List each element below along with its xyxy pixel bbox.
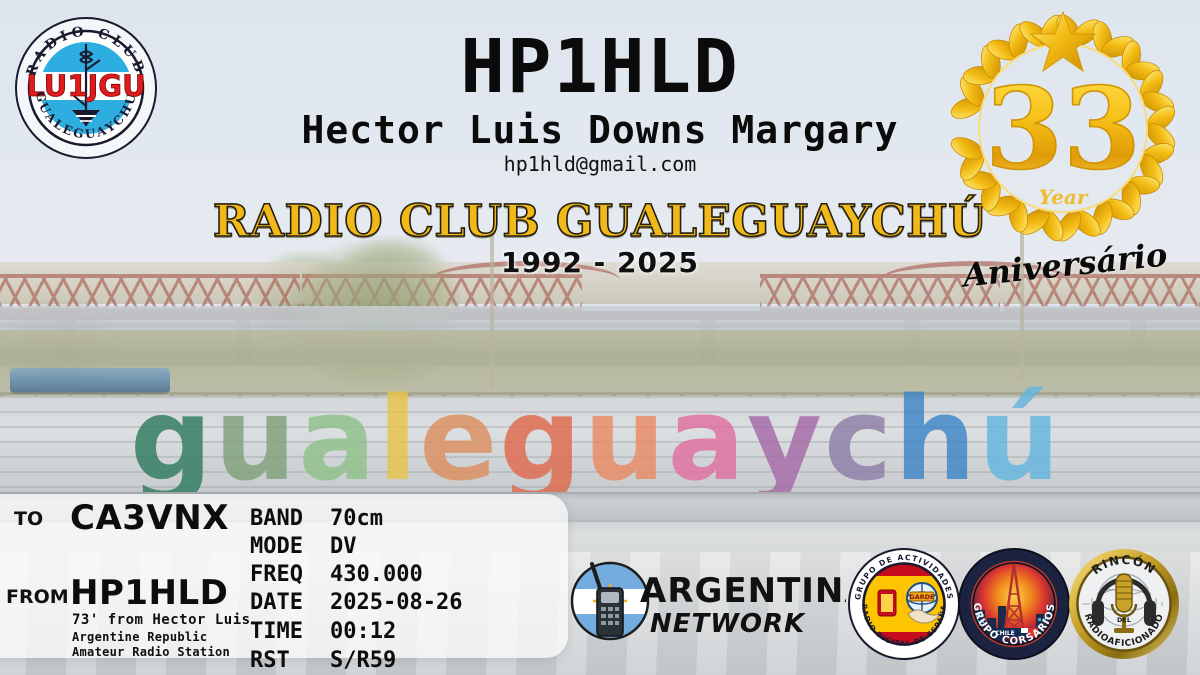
qso-field-value: 2025-08-26 (330, 589, 462, 617)
qso-field-key: MODE (250, 533, 330, 561)
qso-field-value: DV (330, 533, 357, 561)
qsl-card: GualeGuayCHÚ LU1JGU (0, 0, 1200, 675)
letter-sculpture-9: C (824, 383, 892, 498)
qso-field-key: FREQ (250, 561, 330, 589)
qso-field-value: 00:12 (330, 618, 396, 646)
letter-sculpture-7: a (667, 383, 745, 498)
letter-sculpture-0: G (130, 383, 212, 498)
qso-note-line-2: Argentine Republic (72, 630, 251, 644)
star-icon (1031, 12, 1095, 71)
qso-note-line-3: Amateur Radio Station (72, 645, 251, 659)
anniversary-badge: 33 Year (938, 8, 1188, 268)
qso-field-value: 70cm (330, 505, 383, 533)
from-label: FROM (6, 586, 69, 608)
qso-field-band: BAND70cm (250, 505, 462, 533)
anniversary-number: 33 (985, 64, 1141, 195)
qso-field-key: BAND (250, 505, 330, 533)
qso-note-line-1: 73' from Hector Luis (72, 612, 251, 628)
qso-field-freq: FREQ430.000 (250, 561, 462, 589)
letter-sculpture-2: a (298, 383, 376, 498)
letter-sculpture-8: y (747, 383, 822, 498)
qso-field-value: 430.000 (330, 561, 423, 589)
letter-sculpture-10: H (894, 383, 976, 498)
from-callsign: HP1HLD (70, 573, 228, 613)
letter-sculpture-3: l (378, 383, 417, 498)
qso-field-key-rst: RST (250, 647, 330, 675)
grupo-corsarios-badge: CHILE GRUPO CORSARIOS (958, 548, 1070, 660)
to-callsign: CA3VNX (70, 498, 229, 538)
anniversary-sub-label: Year (1039, 185, 1089, 209)
garde-badge: GARDE GRUPO DE ACTIVIDADES RADIO DIGITAL… (848, 548, 960, 660)
qso-field-value-rst: S/R59 (330, 647, 396, 675)
argentina-network-line1: ARGENTINA (640, 571, 846, 611)
letter-sculpture-11: Ú (978, 383, 1060, 498)
qso-field-rst: RST S/R59 (250, 647, 462, 675)
qso-field-list: BAND70cmMODEDVFREQ430.000DATE2025-08-26T… (250, 505, 462, 675)
qso-field-key: TIME (250, 618, 330, 646)
argentina-network-line2: NETWORK (650, 609, 806, 639)
svg-text:DEL: DEL (1117, 616, 1131, 624)
qso-field-mode: MODEDV (250, 533, 462, 561)
letter-sculpture-5: G (499, 383, 581, 498)
to-label: TO (14, 508, 43, 530)
gualeguaychu-letter-sculptures: GualeGuayCHÚ (130, 358, 1130, 498)
svg-text:GARDE: GARDE (909, 593, 934, 601)
letter-sculpture-4: e (419, 383, 497, 498)
rincon-del-radioaficionado-badge: DEL RINCÓN RADIOAFICIONADO (1068, 548, 1180, 660)
qso-field-time: TIME00:12 (250, 618, 462, 646)
argentina-network-logo: ARGENTINA NETWORK (566, 558, 846, 644)
letter-sculpture-1: u (214, 383, 296, 498)
qso-field-key: DATE (250, 589, 330, 617)
letter-sculpture-6: u (584, 383, 666, 498)
qso-field-date: DATE2025-08-26 (250, 589, 462, 617)
qso-note: 73' from Hector Luis Argentine Republic … (72, 612, 251, 659)
